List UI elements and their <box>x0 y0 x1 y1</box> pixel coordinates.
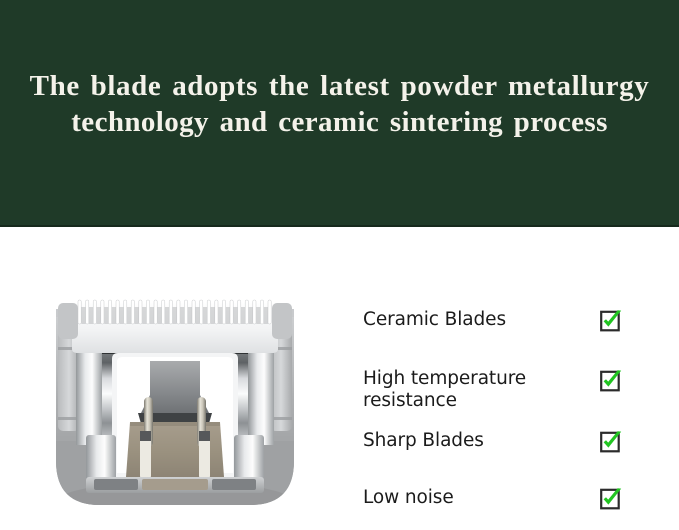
page-title-line-1: The blade adopts the latest powder metal… <box>12 68 667 104</box>
product-infographic-page: The blade adopts the latest powder metal… <box>0 0 679 530</box>
page-title: The blade adopts the latest powder metal… <box>0 68 679 140</box>
feature-label: Ceramic Blades <box>363 309 595 331</box>
feature-label: High temperature resistance <box>363 368 595 412</box>
check-square-icon <box>600 431 621 453</box>
check-square-icon <box>600 370 621 392</box>
ceramic-clipper-blade-photo <box>34 291 316 523</box>
feature-label-line: resistance <box>363 390 595 412</box>
feature-label: Sharp Blades <box>363 430 595 452</box>
feature-label-line: High temperature <box>363 368 595 390</box>
page-title-line-2: technology and ceramic sintering process <box>12 104 667 140</box>
feature-label-line: Low noise <box>363 487 595 509</box>
content-area: Ceramic Blades High temperature resistan… <box>0 229 679 530</box>
feature-label: Low noise <box>363 487 595 509</box>
list-item: Low noise <box>363 487 653 527</box>
list-item: High temperature resistance <box>363 368 653 412</box>
list-item: Ceramic Blades <box>363 309 653 349</box>
feature-checklist: Ceramic Blades High temperature resistan… <box>363 309 653 527</box>
feature-label-line: Ceramic Blades <box>363 309 595 331</box>
list-item: Sharp Blades <box>363 430 653 470</box>
check-square-icon <box>600 310 621 332</box>
header-banner: The blade adopts the latest powder metal… <box>0 0 679 227</box>
check-square-icon <box>600 488 621 510</box>
feature-label-line: Sharp Blades <box>363 430 595 452</box>
